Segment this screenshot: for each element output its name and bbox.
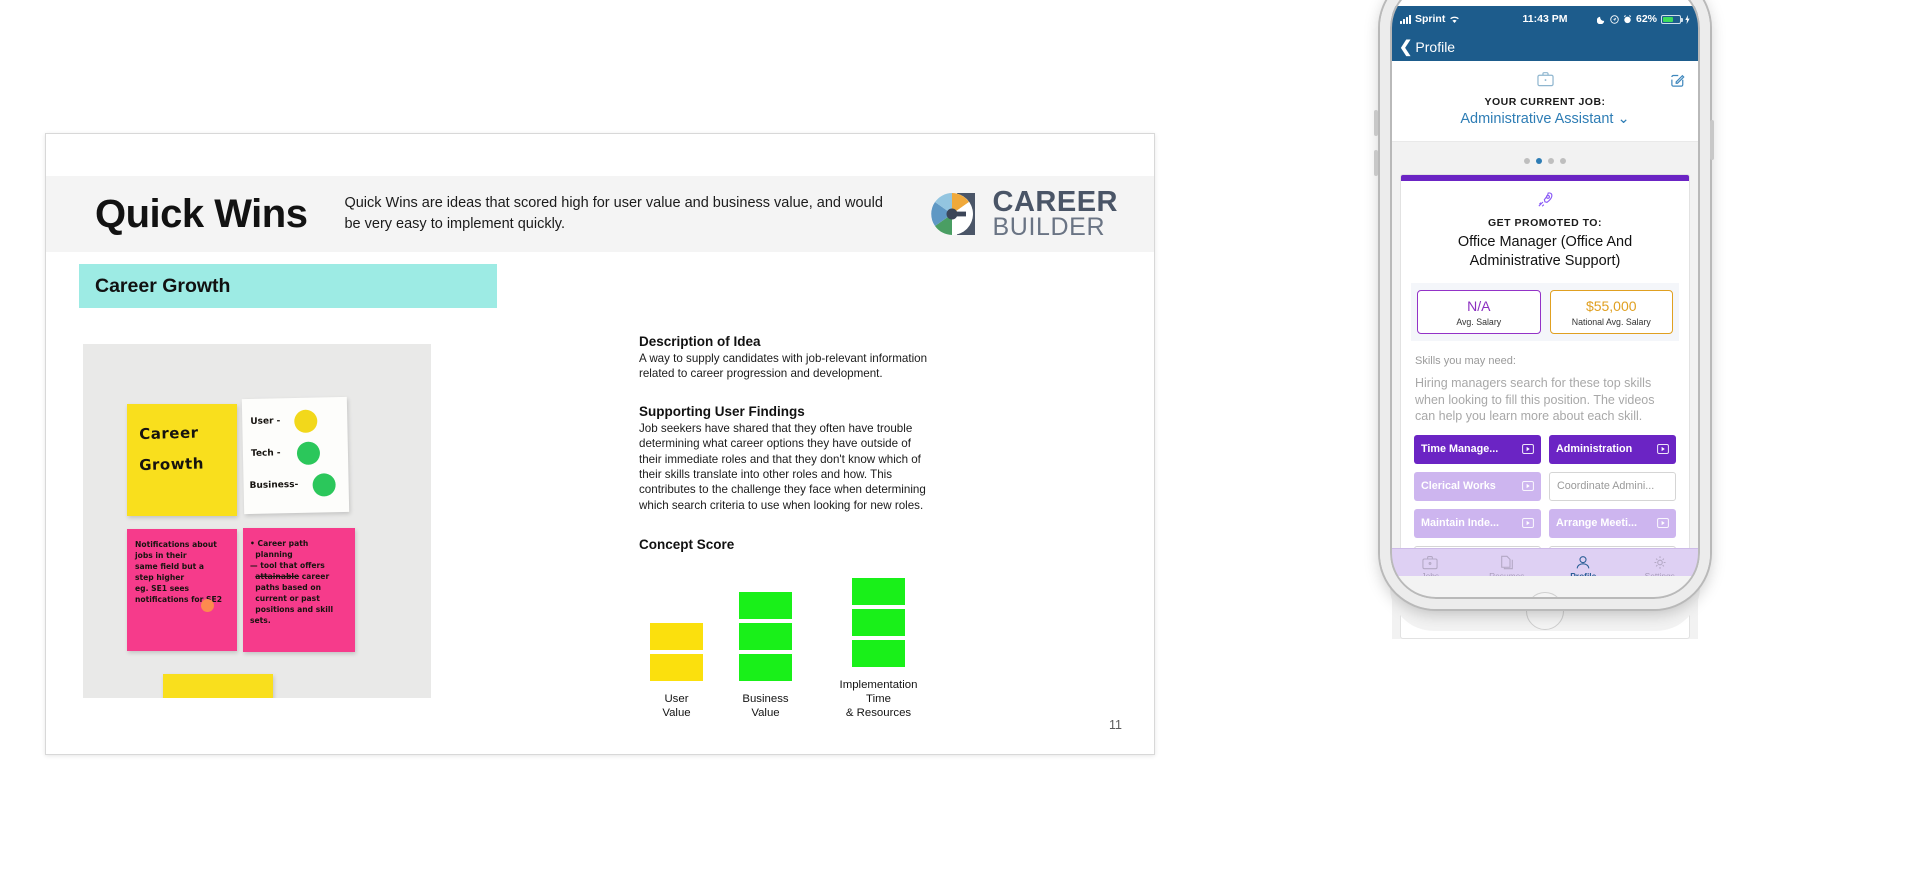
skill-chip[interactable]: Arrange Meeti...	[1549, 509, 1676, 538]
skill-chip[interactable]: Time Manage...	[1414, 435, 1541, 464]
description-body: A way to supply candidates with job-rele…	[639, 351, 929, 382]
chevron-down-icon[interactable]: ⌄	[1618, 111, 1630, 127]
screenshot-canvas: Quick Wins Quick Wins are ideas that sco…	[0, 0, 1920, 886]
moon-icon	[1597, 15, 1606, 24]
slide-header: Quick Wins Quick Wins are ideas that sco…	[46, 176, 1154, 252]
signal-icon	[1400, 15, 1411, 24]
current-job-header: YOUR CURRENT JOB: Administrative Assista…	[1392, 61, 1698, 142]
phone-screen: Sprint 11:43 PM 62% ❮ Profile	[1392, 6, 1698, 886]
play-video-icon[interactable]	[1657, 444, 1669, 454]
avg-salary-value: N/A	[1420, 298, 1538, 314]
bar-user-value: UserValue	[650, 623, 703, 720]
national-salary-box: $55,000 National Avg. Salary	[1550, 290, 1674, 334]
wifi-icon	[1449, 15, 1460, 24]
avg-salary-caption: Avg. Salary	[1420, 317, 1538, 327]
promo-title: Office Manager (Office And Administrativ…	[1401, 229, 1689, 270]
skills-heading: Skills you may need:	[1401, 341, 1689, 367]
battery-icon	[1661, 15, 1681, 24]
national-salary-value: $55,000	[1553, 298, 1671, 314]
sticky-notes-photo: Career Growth User - Tech - Business- No…	[83, 344, 431, 698]
bar-business-value: BusinessValue	[739, 592, 792, 720]
play-video-icon[interactable]	[1522, 518, 1534, 528]
nav-title[interactable]: Profile	[1415, 39, 1455, 55]
sticky-note-title: Career Growth	[127, 404, 237, 516]
back-chevron-icon[interactable]: ❮	[1399, 37, 1412, 57]
concept-score-chart: UserValue BusinessValue Implementation T…	[639, 578, 929, 720]
carousel-dot[interactable]	[1548, 158, 1554, 164]
home-button[interactable]	[1526, 592, 1564, 630]
person-icon	[1575, 555, 1591, 570]
carousel-dot[interactable]	[1524, 158, 1530, 164]
page-title: Quick Wins	[95, 192, 307, 237]
alarm-icon	[1623, 15, 1632, 24]
power-button[interactable]	[1710, 120, 1714, 160]
current-job-text: Administrative Assistant	[1460, 111, 1613, 127]
bar-label-user-value: UserValue	[662, 693, 690, 720]
careerbuilder-mark-icon	[928, 188, 980, 240]
logo-text-builder: BUILDER	[993, 216, 1118, 239]
bar-label-implementation: Implementation Time& Resources	[828, 679, 929, 720]
skill-chip-label: Coordinate Admini...	[1557, 480, 1654, 492]
current-job-label: YOUR CURRENT JOB:	[1392, 96, 1698, 108]
play-video-icon[interactable]	[1522, 444, 1534, 454]
findings-heading: Supporting User Findings	[639, 404, 929, 419]
charging-bolt-icon	[1685, 15, 1690, 24]
play-video-icon[interactable]	[1522, 481, 1534, 491]
volume-down-button[interactable]	[1374, 150, 1378, 176]
carousel-dot[interactable]	[1560, 158, 1566, 164]
location-icon	[1610, 15, 1619, 24]
careerbuilder-logo: CAREER BUILDER	[928, 188, 1118, 240]
carousel-dots[interactable]	[1392, 152, 1698, 174]
skill-chip-label: Arrange Meeti...	[1556, 517, 1637, 529]
section-banner-label: Career Growth	[95, 275, 230, 298]
sticky-note-partial	[163, 674, 273, 698]
avg-salary-box: N/A Avg. Salary	[1417, 290, 1541, 334]
bar-label-business-value: BusinessValue	[742, 693, 788, 720]
promo-label: GET PROMOTED TO:	[1401, 217, 1689, 229]
nav-bar: ❮ Profile	[1392, 32, 1698, 61]
description-heading: Description of Idea	[639, 334, 929, 349]
skill-chip-label: Clerical Works	[1421, 480, 1496, 492]
play-video-icon[interactable]	[1657, 518, 1669, 528]
edit-icon[interactable]	[1670, 73, 1685, 93]
sticky-note-notification: Notifications aboutjobs in theirsame fie…	[127, 529, 237, 651]
current-job-value[interactable]: Administrative Assistant ⌄	[1392, 111, 1698, 127]
skill-chip[interactable]: Clerical Works	[1414, 472, 1541, 501]
skill-chip[interactable]: Coordinate Admini...	[1549, 472, 1676, 501]
sticky-note-career-path: • Career path planning— tool that offers…	[243, 528, 355, 652]
skill-chip-label: Time Manage...	[1421, 443, 1498, 455]
skills-body: Hiring managers search for these top ski…	[1401, 367, 1689, 425]
status-time: 11:43 PM	[1523, 13, 1568, 25]
findings-body: Job seekers have shared that they often …	[639, 421, 929, 513]
skill-chip[interactable]: Administration	[1549, 435, 1676, 464]
skill-chip-label: Maintain Inde...	[1421, 517, 1499, 529]
briefcase-icon	[1422, 555, 1438, 570]
battery-percent: 62%	[1636, 13, 1657, 25]
briefcase-icon	[1537, 71, 1554, 87]
volume-up-button[interactable]	[1374, 110, 1378, 136]
bar-implementation: Implementation Time& Resources	[828, 578, 929, 720]
sticky-note-legend: User - Tech - Business-	[242, 397, 349, 514]
logo-text-career: CAREER	[993, 189, 1118, 216]
concept-score-heading: Concept Score	[639, 537, 929, 552]
national-salary-caption: National Avg. Salary	[1553, 317, 1671, 327]
carousel-dot-active[interactable]	[1536, 158, 1542, 164]
salary-row: N/A Avg. Salary $55,000 National Avg. Sa…	[1411, 283, 1679, 341]
idea-details: Description of Idea A way to supply cand…	[639, 334, 929, 720]
gear-icon	[1652, 555, 1668, 570]
documents-icon	[1499, 555, 1515, 570]
skill-chip-label: Administration	[1556, 443, 1632, 455]
rocket-icon	[1401, 181, 1689, 214]
status-bar: Sprint 11:43 PM 62%	[1392, 6, 1698, 32]
carrier-label: Sprint	[1415, 13, 1445, 25]
section-banner: Career Growth	[79, 264, 497, 308]
skill-chip[interactable]: Maintain Inde...	[1414, 509, 1541, 538]
slide-page-number: 11	[1109, 718, 1122, 732]
presentation-slide: Quick Wins Quick Wins are ideas that sco…	[45, 133, 1155, 755]
slide-subtitle: Quick Wins are ideas that scored high fo…	[344, 193, 889, 234]
